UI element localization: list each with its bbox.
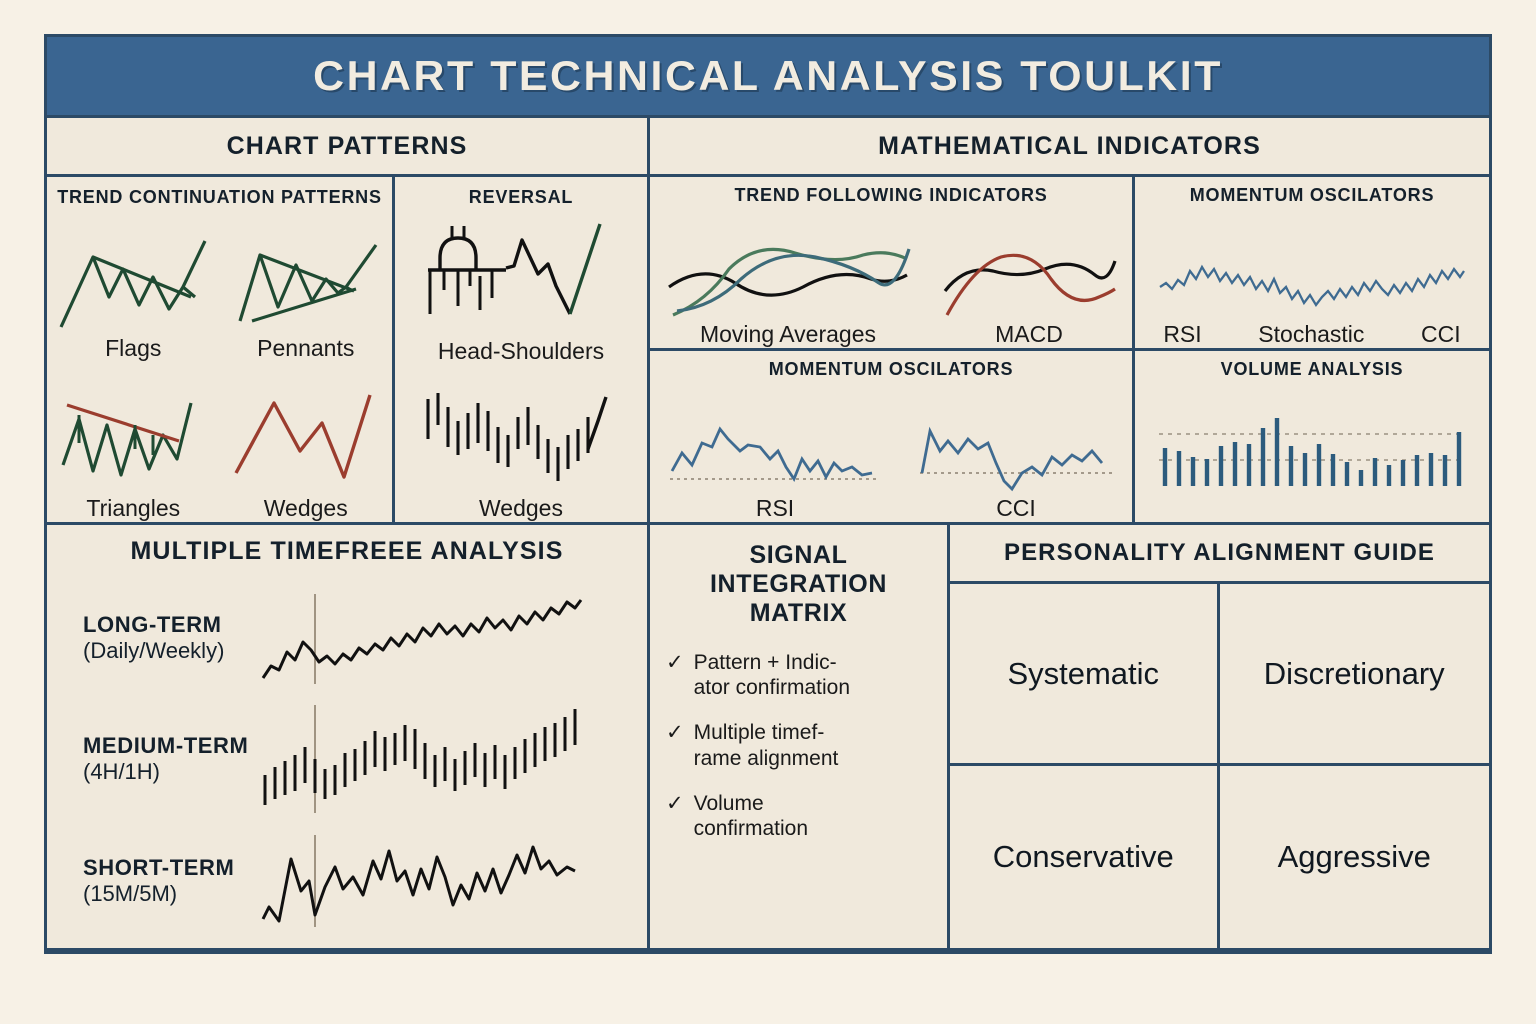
trend-continuation-title: TREND CONTINUATION PATTERNS	[47, 187, 392, 207]
timeframe-row-short[interactable]: SHORT-TERM (15M/5M)	[47, 833, 647, 929]
indicator-label: CCI	[996, 495, 1036, 522]
list-item[interactable]: ✓ Pattern + Indic- ator confirmation	[666, 650, 931, 700]
momentum-oscillators-bottom-group: MOMENTUM OSCILATORS RSI	[650, 351, 1135, 522]
macd-icon	[939, 235, 1119, 321]
pattern-label: Head-Shoulders	[438, 338, 604, 365]
pattern-wedges-reversal[interactable]: Wedges	[395, 365, 647, 522]
rsi-sparkline-icon	[666, 417, 884, 495]
indicator-macd[interactable]: MACD	[939, 235, 1119, 348]
trend-continuation-group: TREND CONTINUATION PATTERNS Flags	[47, 177, 395, 522]
signal-checklist: ✓ Pattern + Indic- ator confirmation ✓ M…	[666, 650, 931, 861]
poster-header: CHART TECHNICAL ANALYSIS TOULKIT	[47, 37, 1489, 118]
timeframe-label: LONG-TERM (Daily/Weekly)	[47, 612, 257, 664]
pattern-flags[interactable]: Flags	[47, 207, 220, 361]
volume-analysis-group: VOLUME ANALYSIS	[1135, 351, 1489, 522]
chart-patterns-title: CHART PATTERNS	[47, 118, 647, 177]
indicator-cci[interactable]: CCI	[916, 417, 1116, 522]
momentum-oscillators-top-title: MOMENTUM OSCILATORS	[1135, 185, 1489, 205]
timeframe-frames: (4H/1H)	[83, 759, 257, 785]
personality-guide-panel: PERSONALITY ALIGNMENT GUIDE Systematic D…	[950, 525, 1489, 948]
signal-item-text: Pattern + Indic- ator confirmation	[694, 650, 850, 700]
trend-following-group: TREND FOLLOWING INDICATORS Moving Averag…	[650, 177, 1135, 348]
triangles-sparkline-icon	[53, 389, 213, 495]
momentum-oscillators-bottom-title: MOMENTUM OSCILATORS	[650, 359, 1132, 379]
moving-averages-icon	[663, 235, 913, 321]
check-icon: ✓	[666, 791, 684, 841]
indicator-rsi[interactable]: RSI	[666, 417, 884, 522]
pattern-pennants[interactable]: Pennants	[220, 207, 393, 361]
personality-quadrants: Systematic Discretionary Conservative Ag…	[950, 584, 1489, 948]
momentum-noise-sparkline-icon[interactable]	[1156, 247, 1468, 321]
pattern-label: Wedges	[479, 495, 563, 522]
medium-term-candles-icon	[257, 703, 587, 815]
signal-item-text: Volume confirmation	[694, 791, 808, 841]
infographic-poster: CHART TECHNICAL ANALYSIS TOULKIT CHART P…	[44, 34, 1492, 954]
timeframe-term: MEDIUM-TERM	[83, 733, 257, 759]
trend-following-charts: Moving Averages MACD	[650, 205, 1132, 348]
volume-analysis-title: VOLUME ANALYSIS	[1135, 359, 1489, 379]
check-icon: ✓	[666, 650, 684, 700]
indicators-title: MATHEMATICAL INDICATORS	[650, 118, 1489, 177]
personality-guide-title: PERSONALITY ALIGNMENT GUIDE	[950, 525, 1489, 584]
momentum-top-labels: RSI Stochastic CCI	[1135, 321, 1489, 348]
lower-section: MULTIPLE TIMEFREEE ANALYSIS LONG-TERM (D…	[47, 522, 1489, 951]
quadrant-aggressive[interactable]: Aggressive	[1220, 766, 1490, 948]
signal-integration-panel: SIGNAL INTEGRATION MATRIX ✓ Pattern + In…	[650, 525, 950, 948]
pattern-label: Triangles	[86, 495, 180, 522]
continuation-pattern-grid: Flags Pennants	[47, 207, 392, 522]
indicator-label: MACD	[995, 321, 1063, 348]
timeframe-term: LONG-TERM	[83, 612, 257, 638]
signal-integration-title: SIGNAL INTEGRATION MATRIX	[666, 541, 931, 628]
chart-patterns-body: TREND CONTINUATION PATTERNS Flags	[47, 177, 647, 522]
quadrant-discretionary[interactable]: Discretionary	[1220, 584, 1490, 766]
indicators-row-bottom: MOMENTUM OSCILATORS RSI	[650, 351, 1489, 522]
wedges-candles-icon	[410, 377, 632, 495]
cci-sparkline-icon	[916, 417, 1116, 495]
check-icon: ✓	[666, 720, 684, 770]
pattern-label: Wedges	[264, 495, 348, 522]
indicator-label: CCI	[1421, 321, 1461, 348]
reversal-group: REVERSAL	[395, 177, 647, 522]
indicator-label: RSI	[756, 495, 794, 522]
timeframe-row-long[interactable]: LONG-TERM (Daily/Weekly)	[47, 590, 647, 686]
upper-section: CHART PATTERNS TREND CONTINUATION PATTER…	[47, 118, 1489, 522]
pattern-triangles[interactable]: Triangles	[47, 362, 220, 522]
pennants-sparkline-icon	[226, 235, 386, 335]
pattern-wedges-continuation[interactable]: Wedges	[220, 362, 393, 522]
multi-timeframe-title: MULTIPLE TIMEFREEE ANALYSIS	[47, 525, 647, 577]
momentum-oscillators-top-group: MOMENTUM OSCILATORS RSI Stochastic CCI	[1135, 177, 1489, 348]
page-title: CHART TECHNICAL ANALYSIS TOULKIT	[313, 52, 1223, 100]
momentum-top-chart-wrap: RSI Stochastic CCI	[1135, 205, 1489, 348]
timeframe-label: MEDIUM-TERM (4H/1H)	[47, 733, 257, 785]
pattern-label: Pennants	[257, 335, 354, 362]
reversal-pattern-list: Head-Shoulders	[395, 207, 647, 522]
timeframe-term: SHORT-TERM	[83, 855, 257, 881]
indicators-panel: MATHEMATICAL INDICATORS TREND FOLLOWING …	[650, 118, 1489, 522]
pattern-label: Flags	[105, 335, 161, 362]
indicator-label: RSI	[1163, 321, 1201, 348]
indicator-label: Moving Averages	[700, 321, 876, 348]
list-item[interactable]: ✓ Multiple timef- rame alignment	[666, 720, 931, 770]
flags-sparkline-icon	[53, 235, 213, 335]
long-term-sparkline-icon	[257, 590, 587, 686]
volume-chart-wrap	[1135, 379, 1489, 522]
multi-timeframe-rows: LONG-TERM (Daily/Weekly) MEDIUM-TERM (4H…	[47, 577, 647, 948]
indicator-moving-averages[interactable]: Moving Averages	[663, 235, 913, 348]
short-term-zigzag-icon	[257, 833, 587, 929]
timeframe-frames: (15M/5M)	[83, 881, 257, 907]
timeframe-label: SHORT-TERM (15M/5M)	[47, 855, 257, 907]
chart-patterns-panel: CHART PATTERNS TREND CONTINUATION PATTER…	[47, 118, 650, 522]
signal-item-text: Multiple timef- rame alignment	[694, 720, 839, 770]
indicator-label: Stochastic	[1258, 321, 1364, 348]
multi-timeframe-panel: MULTIPLE TIMEFREEE ANALYSIS LONG-TERM (D…	[47, 525, 650, 948]
timeframe-frames: (Daily/Weekly)	[83, 638, 257, 664]
pattern-head-shoulders[interactable]: Head-Shoulders	[395, 207, 647, 364]
volume-bars-icon[interactable]	[1153, 408, 1471, 494]
reversal-title: REVERSAL	[395, 187, 647, 207]
trend-following-title: TREND FOLLOWING INDICATORS	[650, 185, 1132, 205]
momentum-bottom-charts: RSI CCI	[650, 379, 1132, 522]
timeframe-row-medium[interactable]: MEDIUM-TERM (4H/1H)	[47, 703, 647, 815]
indicators-row-top: TREND FOLLOWING INDICATORS Moving Averag…	[650, 177, 1489, 351]
quadrant-conservative[interactable]: Conservative	[950, 766, 1220, 948]
list-item[interactable]: ✓ Volume confirmation	[666, 791, 931, 841]
wedges-sparkline-icon	[226, 389, 386, 495]
head-shoulders-icon	[410, 218, 632, 338]
quadrant-systematic[interactable]: Systematic	[950, 584, 1220, 766]
